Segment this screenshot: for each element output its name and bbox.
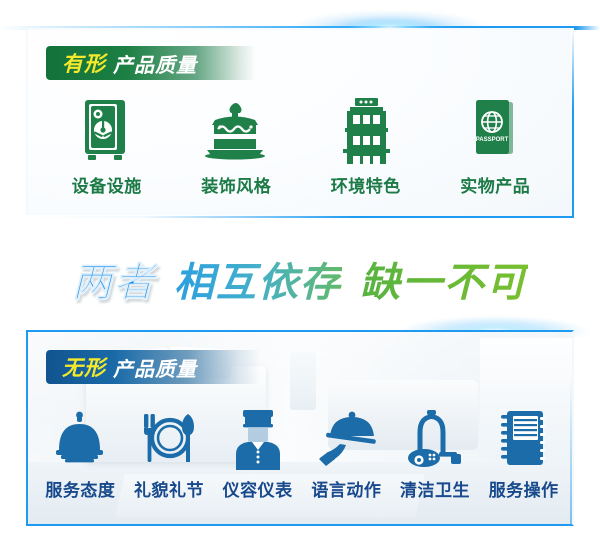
slogan-part-3: 缺一不可 [360, 250, 528, 308]
bellboy-icon [228, 402, 288, 470]
intangible-item-label: 清洁卫生 [400, 476, 470, 501]
intangible-item-label: 服务态度 [45, 476, 115, 501]
tangible-item-label: 装饰风格 [201, 172, 271, 197]
card-border-fade-bottom [26, 215, 356, 218]
intangible-item-label: 服务操作 [489, 476, 559, 501]
passport-icon: PASSPORT [467, 94, 523, 166]
intangible-section-badge: 无形 产品质量 [46, 350, 260, 384]
decorated-cake-icon [201, 94, 271, 166]
service-bell-icon [52, 402, 108, 470]
passport-label-text: PASSPORT [476, 137, 509, 143]
intangible-item-label: 语言动作 [311, 476, 381, 501]
plate-cutlery-icon [136, 402, 202, 470]
tangible-badge-main-text: 产品质量 [113, 49, 197, 78]
intangible-item-label: 礼貌礼节 [134, 476, 204, 501]
tangible-item-product[interactable]: PASSPORT 实物产品 [431, 94, 561, 197]
building-icon [336, 94, 396, 166]
tangible-badge-accent-text: 有形 [62, 48, 106, 78]
intangible-badge-main-text: 产品质量 [113, 353, 197, 382]
intangible-item-hygiene[interactable]: 清洁卫生 [391, 402, 480, 501]
tangible-item-equipment[interactable]: 设备设施 [42, 94, 172, 197]
vacuum-cleaner-icon [405, 402, 465, 470]
intangible-item-grooming[interactable]: 仪容仪表 [213, 402, 302, 501]
intangible-item-etiquette[interactable]: 礼貌礼节 [125, 402, 214, 501]
infographic-canvas: 有形 产品质量 [0, 0, 600, 554]
intangible-item-operation[interactable]: 服务操作 [479, 402, 568, 501]
notebook-icon [497, 402, 551, 470]
tangible-item-label: 设备设施 [72, 172, 142, 197]
card-border-fade-right [570, 376, 574, 526]
serving-tray-icon [314, 402, 378, 470]
intangible-items-row: 服务态度 [36, 402, 568, 501]
intangible-item-language[interactable]: 语言动作 [302, 402, 391, 501]
intangible-quality-card: 无形 产品质量 [26, 330, 574, 526]
tangible-item-decor[interactable]: 装饰风格 [172, 94, 302, 197]
card-border-fade-right [571, 28, 574, 108]
tangible-item-label: 实物产品 [460, 172, 530, 197]
tangible-item-environment[interactable]: 环境特色 [301, 94, 431, 197]
center-slogan: 两者 相互依存 缺一不可 [0, 248, 600, 310]
intangible-item-attitude[interactable]: 服务态度 [36, 402, 125, 501]
slogan-part-1: 两者 [72, 250, 156, 308]
slogan-part-2: 相互依存 [174, 250, 342, 308]
tangible-section-badge: 有形 产品质量 [46, 46, 256, 80]
safe-vault-icon [78, 94, 136, 166]
intangible-badge-accent-text: 无形 [62, 352, 106, 382]
tangible-item-label: 环境特色 [331, 172, 401, 197]
tangible-items-row: 设备设施 [42, 94, 560, 197]
intangible-item-label: 仪容仪表 [223, 476, 293, 501]
tangible-quality-card: 有形 产品质量 [26, 28, 574, 218]
